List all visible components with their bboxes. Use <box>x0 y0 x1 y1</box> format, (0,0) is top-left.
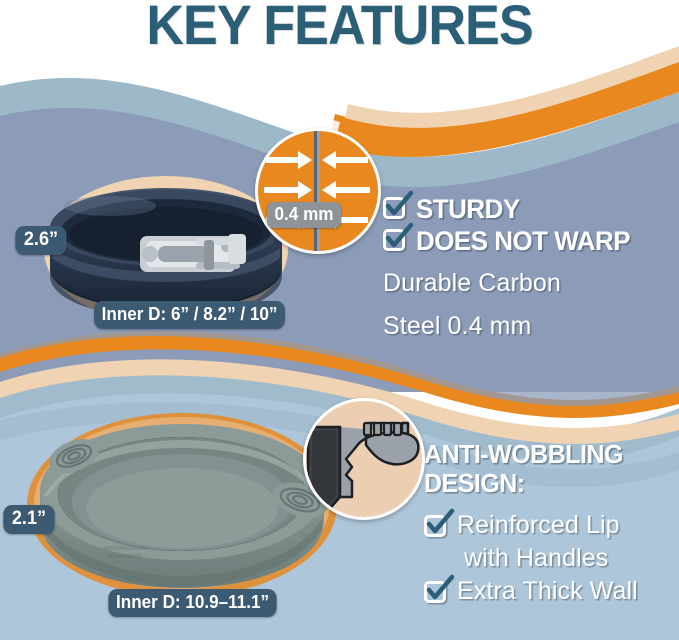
heading-line-2: DESIGN: <box>424 469 664 498</box>
material-description-line-2: Steel 0.4 mm <box>383 311 675 342</box>
feature-label: Extra Thick Wall <box>457 576 638 607</box>
feature-item-sturdy: STURDY <box>383 194 675 224</box>
inner-diameter-badge-top: Inner D: 6” / 8.2” / 10” <box>94 301 285 329</box>
wall-thickness-magnifier <box>255 128 381 254</box>
heading-line-1: ANTI-WOBBLING <box>424 440 664 469</box>
checkbox-checked-icon <box>424 581 450 607</box>
springform-latch <box>140 234 246 272</box>
bottom-feature-list: ANTI-WOBBLING DESIGN: Reinforced Lip wit… <box>424 440 674 609</box>
checkbox-checked-icon <box>424 515 450 541</box>
page-title: KEY FEATURES <box>24 0 655 55</box>
reinforced-lip-cross-section-magnifier <box>303 398 425 520</box>
feature-label: Reinforced Lip <box>457 510 620 541</box>
infographic-canvas: KEY FEATURES 0.4 mm <box>0 0 679 640</box>
height-badge-top: 2.6” <box>15 226 66 255</box>
feature-item-reinforced-lip: Reinforced Lip <box>424 510 674 541</box>
checkbox-checked-icon <box>383 229 409 255</box>
anti-wobbling-heading: ANTI-WOBBLING DESIGN: <box>424 440 674 498</box>
top-feature-list: STURDY DOES NOT WARP Durable Carbon Stee… <box>383 194 675 341</box>
checkbox-checked-icon <box>383 197 409 223</box>
height-badge-bottom: 2.1” <box>3 505 54 534</box>
feature-label: DOES NOT WARP <box>416 226 630 256</box>
feature-item-extra-thick-wall: Extra Thick Wall <box>424 576 674 607</box>
material-description-line-1: Durable Carbon <box>383 268 675 299</box>
inner-diameter-badge-bottom: Inner D: 10.9–11.1” <box>108 589 276 617</box>
feature-label: STURDY <box>416 194 520 224</box>
silicone-pan-illustration <box>27 413 337 597</box>
thickness-badge: 0.4 mm <box>267 202 341 228</box>
feature-item-does-not-warp: DOES NOT WARP <box>383 226 675 256</box>
feature-label: with Handles <box>464 543 608 574</box>
feature-item-with-handles: with Handles <box>424 543 674 574</box>
